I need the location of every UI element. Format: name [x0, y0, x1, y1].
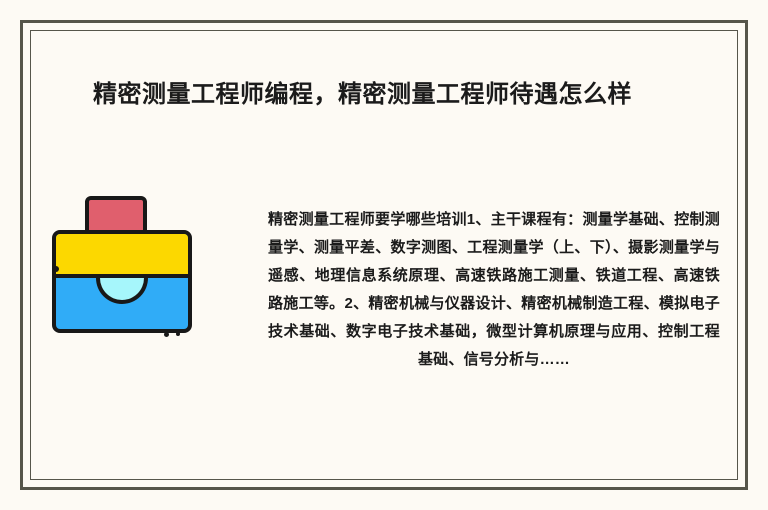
body-paragraph: 精密测量工程师要学哪些培训1、主干课程有：测量学基础、控制测量学、测量平差、数字… — [268, 206, 720, 374]
tool-case-rivet-left-icon — [53, 266, 59, 272]
page-canvas: 精密测量工程师编程，精密测量工程师待遇怎么样 精密测量工程师要学哪些培训1、主干… — [0, 0, 768, 510]
tool-case-body-icon — [52, 230, 192, 333]
tool-case-illustration — [52, 196, 192, 338]
tool-case-foot-b-icon — [176, 332, 180, 336]
page-title: 精密测量工程师编程，精密测量工程师待遇怎么样 — [93, 79, 693, 110]
tool-case-latch-icon — [96, 278, 148, 304]
tool-case-band-icon — [56, 234, 188, 278]
tool-case-foot-a-icon — [164, 332, 169, 337]
